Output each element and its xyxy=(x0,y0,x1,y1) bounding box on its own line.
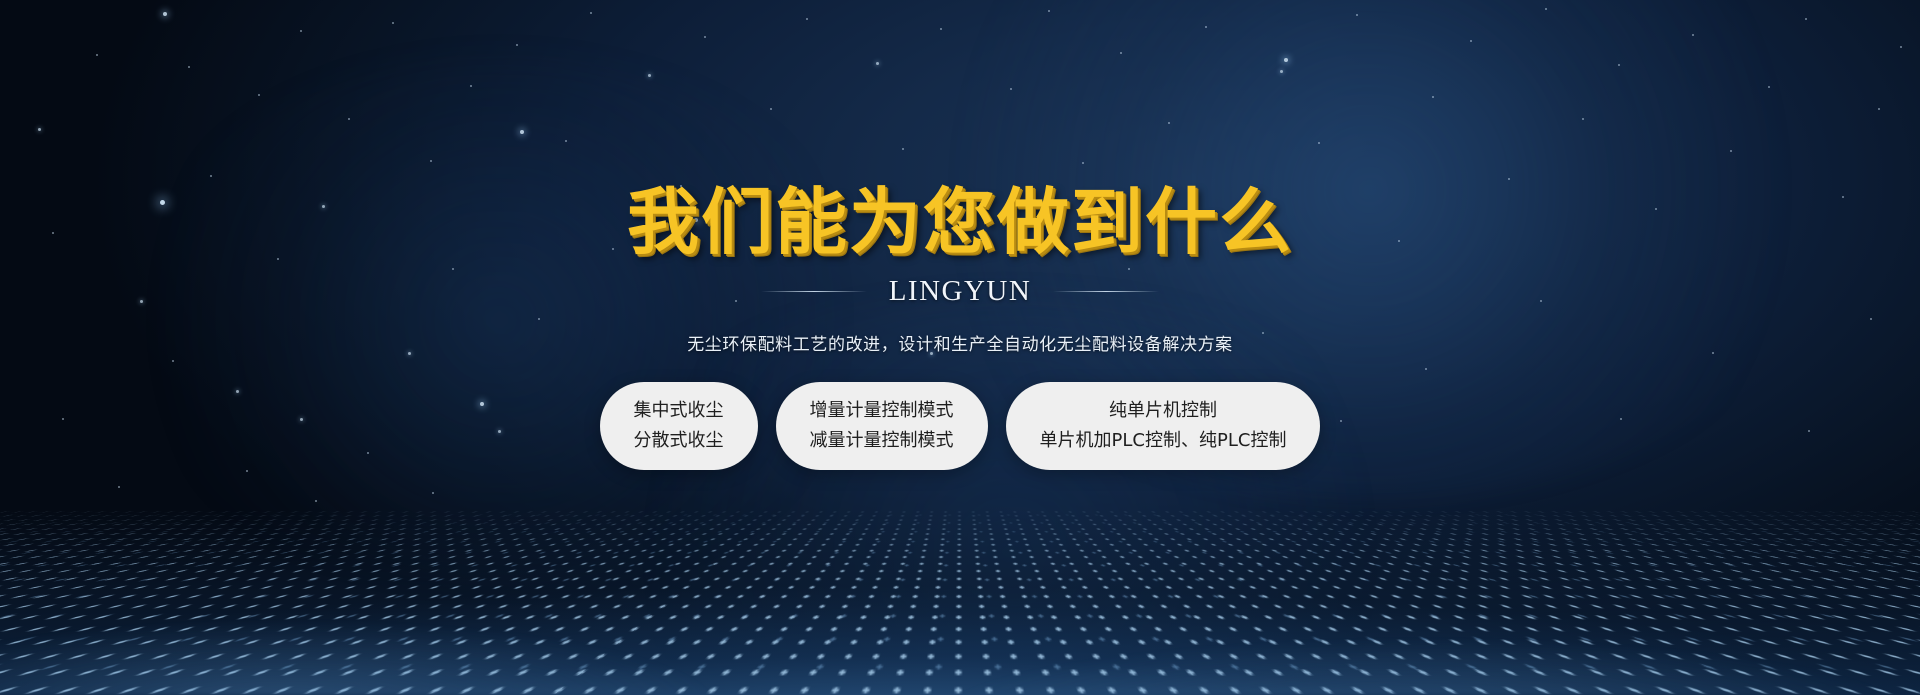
feature-card-control-system[interactable]: 纯单片机控制单片机加PLC控制、纯PLC控制 xyxy=(1006,382,1321,470)
page-title: 我们能为您做到什么 xyxy=(627,186,1293,258)
feature-card-line: 集中式收尘 xyxy=(634,401,724,422)
divider-line-left xyxy=(761,291,867,292)
hero-banner: 我们能为您做到什么 LINGYUN 无尘环保配料工艺的改进，设计和生产全自动化无… xyxy=(0,0,1920,695)
feature-card-line: 减量计量控制模式 xyxy=(810,431,954,452)
brand-divider-row: LINGYUN xyxy=(761,275,1160,308)
page-subtitle: 无尘环保配料工艺的改进，设计和生产全自动化无尘配料设备解决方案 xyxy=(687,330,1233,355)
divider-line-right xyxy=(1053,291,1159,292)
feature-card-line: 单片机加PLC控制、纯PLC控制 xyxy=(1040,431,1287,452)
feature-card-dust-collection[interactable]: 集中式收尘分散式收尘 xyxy=(600,382,758,470)
feature-card-line: 增量计量控制模式 xyxy=(810,401,954,422)
hero-content: 我们能为您做到什么 LINGYUN 无尘环保配料工艺的改进，设计和生产全自动化无… xyxy=(0,0,1920,695)
feature-card-list: 集中式收尘分散式收尘增量计量控制模式减量计量控制模式纯单片机控制单片机加PLC控… xyxy=(600,382,1321,470)
feature-card-metering-mode[interactable]: 增量计量控制模式减量计量控制模式 xyxy=(776,382,988,470)
feature-card-line: 分散式收尘 xyxy=(634,431,724,452)
brand-name: LINGYUN xyxy=(889,275,1032,308)
feature-card-line: 纯单片机控制 xyxy=(1109,401,1217,422)
